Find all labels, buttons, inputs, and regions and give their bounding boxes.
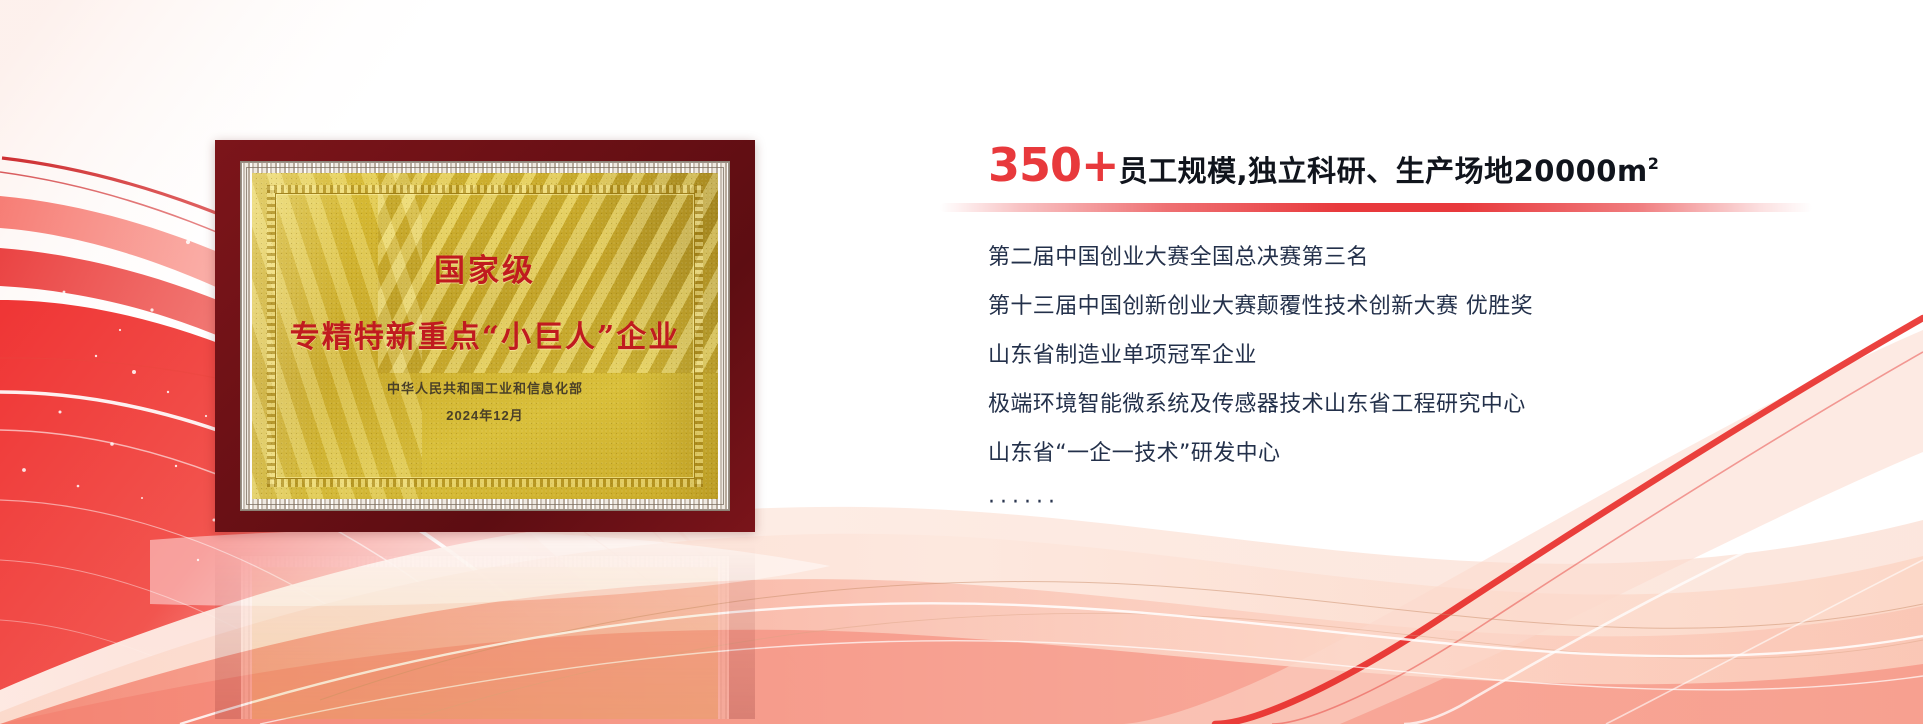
reflection-ornament [241,556,729,719]
awards-more-ellipsis: ······ [988,492,1868,514]
list-item: 山东省制造业单项冠军企业 [988,345,1868,367]
headline-metric-text: 员工规模,独立科研、生产场地20000m [1119,157,1648,186]
list-item: 山东省“一企一技术”研发中心 [988,443,1868,465]
list-item: 极端环境智能微系统及传感器技术山东省工程研究中心 [988,394,1868,416]
award-plaque: 国家级 专精特新重点“小巨人”企业 中华人民共和国工业和信息化部 2024年12… [215,140,755,532]
plaque-reflection [215,534,755,719]
headline: 350+ 员工规模,独立科研、生产场地20000m 2 [988,142,1868,188]
reflection-frame [215,534,755,719]
headline-superscript: 2 [1648,156,1659,172]
awards-list: 第二届中国创业大赛全国总决赛第三名 第十三届中国创新创业大赛颠覆性技术创新大赛 … [988,247,1868,514]
plaque-issuer: 中华人民共和国工业和信息化部 [252,378,718,397]
plaque-gold-plate: 国家级 专精特新重点“小巨人”企业 中华人民共和国工业和信息化部 2024年12… [252,173,718,499]
headline-metric-number: 350+ [988,142,1119,188]
plaque-text-block: 国家级 专精特新重点“小巨人”企业 中华人民共和国工业和信息化部 2024年12… [252,173,718,499]
plaque-date: 2024年12月 [252,405,718,424]
headline-underline-bar [940,203,1812,212]
list-item: 第十三届中国创新创业大赛颠覆性技术创新大赛 优胜奖 [988,296,1868,318]
reflection-gold-plate [252,567,718,719]
banner-root: 国家级 专精特新重点“小巨人”企业 中华人民共和国工业和信息化部 2024年12… [0,0,1923,724]
plaque-title-line1: 国家级 [434,245,536,290]
plaque-outer-frame: 国家级 专精特新重点“小巨人”企业 中华人民共和国工业和信息化部 2024年12… [215,140,755,532]
plaque-silver-ornament-border: 国家级 专精特新重点“小巨人”企业 中华人民共和国工业和信息化部 2024年12… [241,162,729,510]
content-column: 350+ 员工规模,独立科研、生产场地20000m 2 第二届中国创业大赛全国总… [988,142,1868,514]
list-item: 第二届中国创业大赛全国总决赛第三名 [988,247,1868,269]
plaque-title-line2: 专精特新重点“小巨人”企业 [290,312,681,356]
